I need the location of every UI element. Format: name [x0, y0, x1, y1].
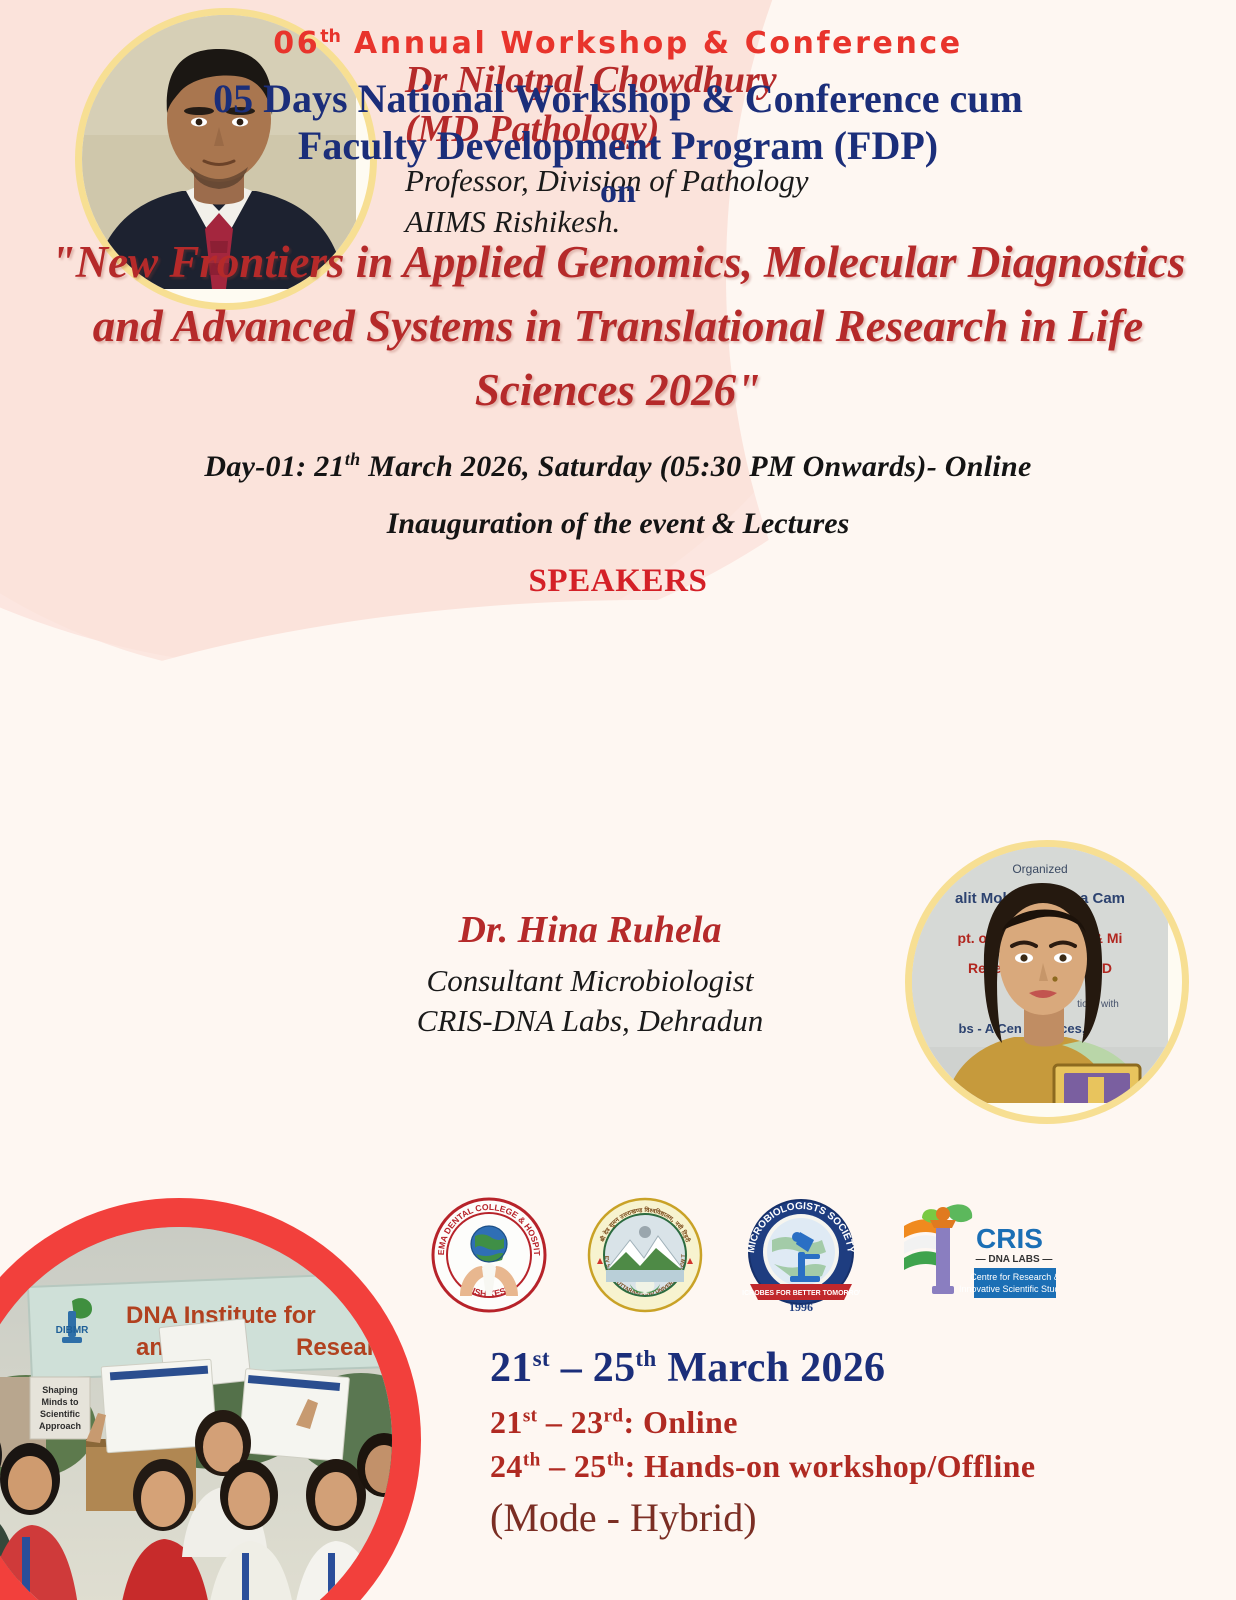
svg-text:MICROBES FOR BETTER TOMORROW: MICROBES FOR BETTER TOMORROW [742, 1290, 860, 1297]
annual-edition-kicker: 06th Annual Workshop & Conference [0, 0, 1236, 59]
date-range-sup-2: th [635, 1345, 656, 1371]
date-range-sup-1: st [533, 1345, 550, 1371]
offline-days-c: : Hands-on workshop/Offline [625, 1448, 1036, 1484]
event-dates-block: 21st – 25th March 2026 21st – 23rd: Onli… [490, 1345, 1220, 1540]
online-days-sup-a: st [523, 1406, 538, 1427]
offline-days-b: – 25 [541, 1448, 607, 1484]
svg-text:DIBMR: DIBMR [56, 1325, 90, 1336]
svg-text:Minds to: Minds to [42, 1397, 79, 1407]
svg-text:Scientific: Scientific [40, 1409, 80, 1419]
offline-days-sup-b: th [607, 1450, 625, 1471]
students-with-certificates-photo: DNA Institute for and Resear DIBMR Shapi… [0, 1227, 392, 1600]
speaker-2-affiliation-line-2: CRIS-DNA Labs, Dehradun [290, 1001, 890, 1041]
speaker-2-details: Dr. Hina Ruhela Consultant Microbiologis… [290, 906, 890, 1041]
seema-dental-college-logo: SEEMA DENTAL COLLEGE & HOSPITAL RISHIKES… [430, 1196, 548, 1314]
online-days-sup-b: rd [603, 1406, 623, 1427]
offline-days-a: 24 [490, 1448, 523, 1484]
microbiologists-society-logo: MICROBIOLOGISTS SOCIETY MICROBES FOR BET… [742, 1196, 860, 1314]
headline-line-3: on [0, 169, 1236, 215]
group-photo: DNA Institute for and Resear DIBMR Shapi… [0, 1227, 392, 1600]
svg-text:Approach: Approach [39, 1421, 81, 1431]
inauguration-note: Inauguration of the event & Lectures [0, 507, 1236, 541]
svg-text:bs - A Cen Sciences,: bs - A Cen Sciences, [959, 1021, 1086, 1036]
portrait-dr-hina-ruhela: Organized alit Mohan Sharma Cam pt. of M… [912, 847, 1168, 1103]
day-one-before: Day-01: 21 [204, 450, 344, 483]
mode-hybrid-label: (Mode - Hybrid) [490, 1496, 1220, 1540]
date-range-mid: – 25 [550, 1345, 636, 1391]
online-days-c: : Online [623, 1404, 737, 1440]
svg-text:Centre for Research &: Centre for Research & [970, 1272, 1056, 1282]
cris-dna-labs-logo: CRIS CRIS — DNA LABS — Centre for Resear… [898, 1200, 1056, 1310]
day-one-after: March 2026, Saturday (05:30 PM Onwards)-… [360, 450, 1031, 483]
avatar-speaker-2: Organized alit Mohan Sharma Cam pt. of M… [905, 840, 1189, 1124]
poster-content: 06th Annual Workshop & Conference 05 Day… [0, 0, 1236, 600]
conference-poster: 06th Annual Workshop & Conference 05 Day… [0, 0, 1236, 1600]
offline-days-sup-a: th [523, 1450, 541, 1471]
online-days-a: 21 [490, 1404, 523, 1440]
kicker-rest: Annual Workshop & Conference [341, 26, 963, 61]
svg-text:Resear: Resear [296, 1334, 376, 1361]
speaker-2-affiliation-line-1: Consultant Microbiologist [290, 961, 890, 1001]
day-one-ordinal: th [345, 449, 361, 469]
offline-days-line: 24th – 25th: Hands-on workshop/Offline [490, 1445, 1220, 1487]
online-days-b: – 23 [537, 1404, 603, 1440]
svg-text:Innovative Scientific Studies: Innovative Scientific Studies [959, 1284, 1056, 1294]
headline-line-2: Faculty Development Program (FDP) [0, 122, 1236, 169]
svg-text:1996: 1996 [789, 1300, 813, 1314]
speaker-2-name-line-1: Dr. Hina Ruhela [290, 906, 890, 955]
event-date-range: 21st – 25th March 2026 [490, 1345, 1220, 1391]
online-days-line: 21st – 23rd: Online [490, 1401, 1220, 1443]
date-range-prefix: 21 [490, 1345, 533, 1391]
page-title: "New Frontiers in Applied Genomics, Mole… [0, 231, 1236, 423]
day-one-schedule: Day-01: 21th March 2026, Saturday (05:30… [0, 449, 1236, 484]
kicker-prefix: 06 [273, 26, 320, 61]
organizer-logos: SEEMA DENTAL COLLEGE & HOSPITAL RISHIKES… [430, 1196, 1090, 1314]
svg-text:— DNA LABS —: — DNA LABS — [976, 1254, 1053, 1265]
headline-line-1: 05 Days National Workshop & Conference c… [0, 75, 1236, 122]
svg-text:Organized: Organized [1012, 862, 1067, 876]
event-headline: 05 Days National Workshop & Conference c… [0, 75, 1236, 215]
svg-text:Shaping: Shaping [42, 1385, 78, 1395]
date-range-suffix: March 2026 [657, 1345, 886, 1391]
speakers-heading: SPEAKERS [0, 563, 1236, 600]
kicker-ordinal-suffix: th [320, 27, 341, 47]
sri-dev-suman-university-logo: श्री देव सुमन उत्तराखण्ड विश्वविद्यालय, … [586, 1196, 704, 1314]
